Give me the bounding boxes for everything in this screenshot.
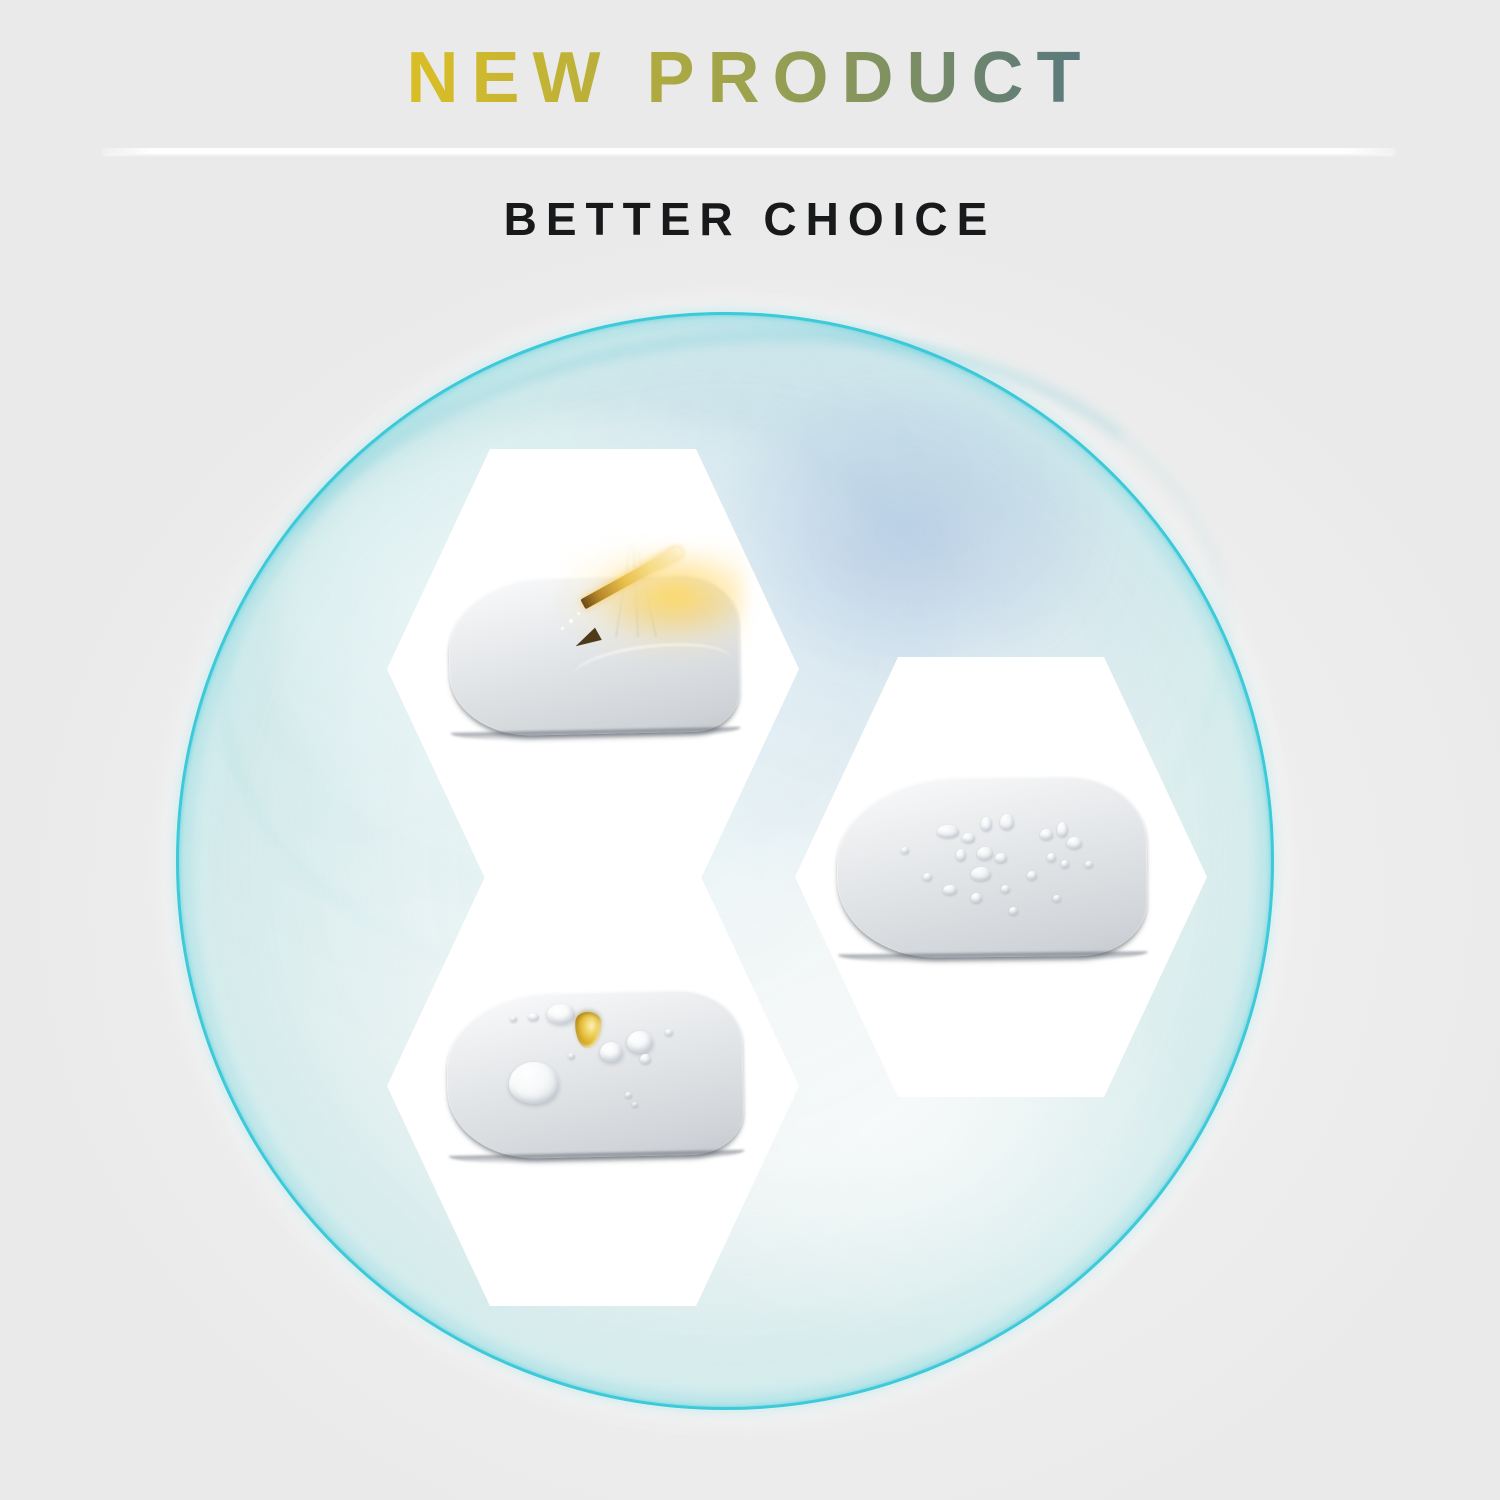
- header-divider: [103, 148, 1395, 154]
- lens-icon: [836, 775, 1148, 958]
- impact-spark: [577, 612, 580, 615]
- water-droplet: [956, 849, 966, 861]
- page-title: NEW PRODUCT: [0, 0, 1500, 114]
- lens-edge: [838, 951, 1148, 964]
- water-droplet: [1067, 837, 1082, 849]
- water-droplet: [1053, 895, 1061, 902]
- page-subtitle: BETTER CHOICE: [0, 192, 1500, 246]
- water-droplet: [510, 1016, 517, 1022]
- water-droplet: [937, 825, 959, 838]
- water-droplet: [971, 893, 982, 903]
- water-droplet: [568, 1053, 575, 1059]
- poster-header: NEW PRODUCT BETTER CHOICE: [0, 0, 1500, 114]
- lens-edge: [451, 727, 741, 743]
- water-droplet: [1085, 861, 1093, 868]
- water-droplet: [1027, 871, 1037, 880]
- water-droplet: [528, 1013, 539, 1021]
- water-droplet: [627, 1031, 653, 1053]
- water-droplet: [1061, 860, 1069, 868]
- water-droplet: [1001, 885, 1010, 893]
- water-droplet: [665, 1029, 673, 1036]
- water-droplet: [923, 873, 932, 881]
- water-droplet: [981, 817, 992, 831]
- water-droplet: [625, 1092, 632, 1098]
- water-droplet: [1040, 829, 1053, 840]
- impact-spark: [561, 627, 564, 630]
- water-droplet: [547, 1004, 575, 1024]
- water-droplet: [1057, 822, 1068, 837]
- water-droplet-large: [509, 1062, 559, 1104]
- product-poster: NEW PRODUCT BETTER CHOICE Pro: [0, 0, 1500, 1500]
- water-droplet: [962, 833, 975, 843]
- water-droplet: [1009, 907, 1018, 915]
- water-droplet: [1047, 853, 1056, 862]
- water-droplet: [971, 867, 991, 881]
- lens-edge: [449, 1150, 745, 1166]
- water-droplet: [600, 1042, 623, 1062]
- water-droplet: [995, 853, 1007, 863]
- water-droplet: [632, 1102, 638, 1107]
- water-droplet: [977, 847, 993, 860]
- water-droplet: [943, 885, 957, 895]
- water-droplet: [901, 847, 909, 854]
- water-droplet: [1000, 814, 1014, 830]
- impact-spark: [569, 619, 573, 623]
- water-droplet: [640, 1054, 651, 1064]
